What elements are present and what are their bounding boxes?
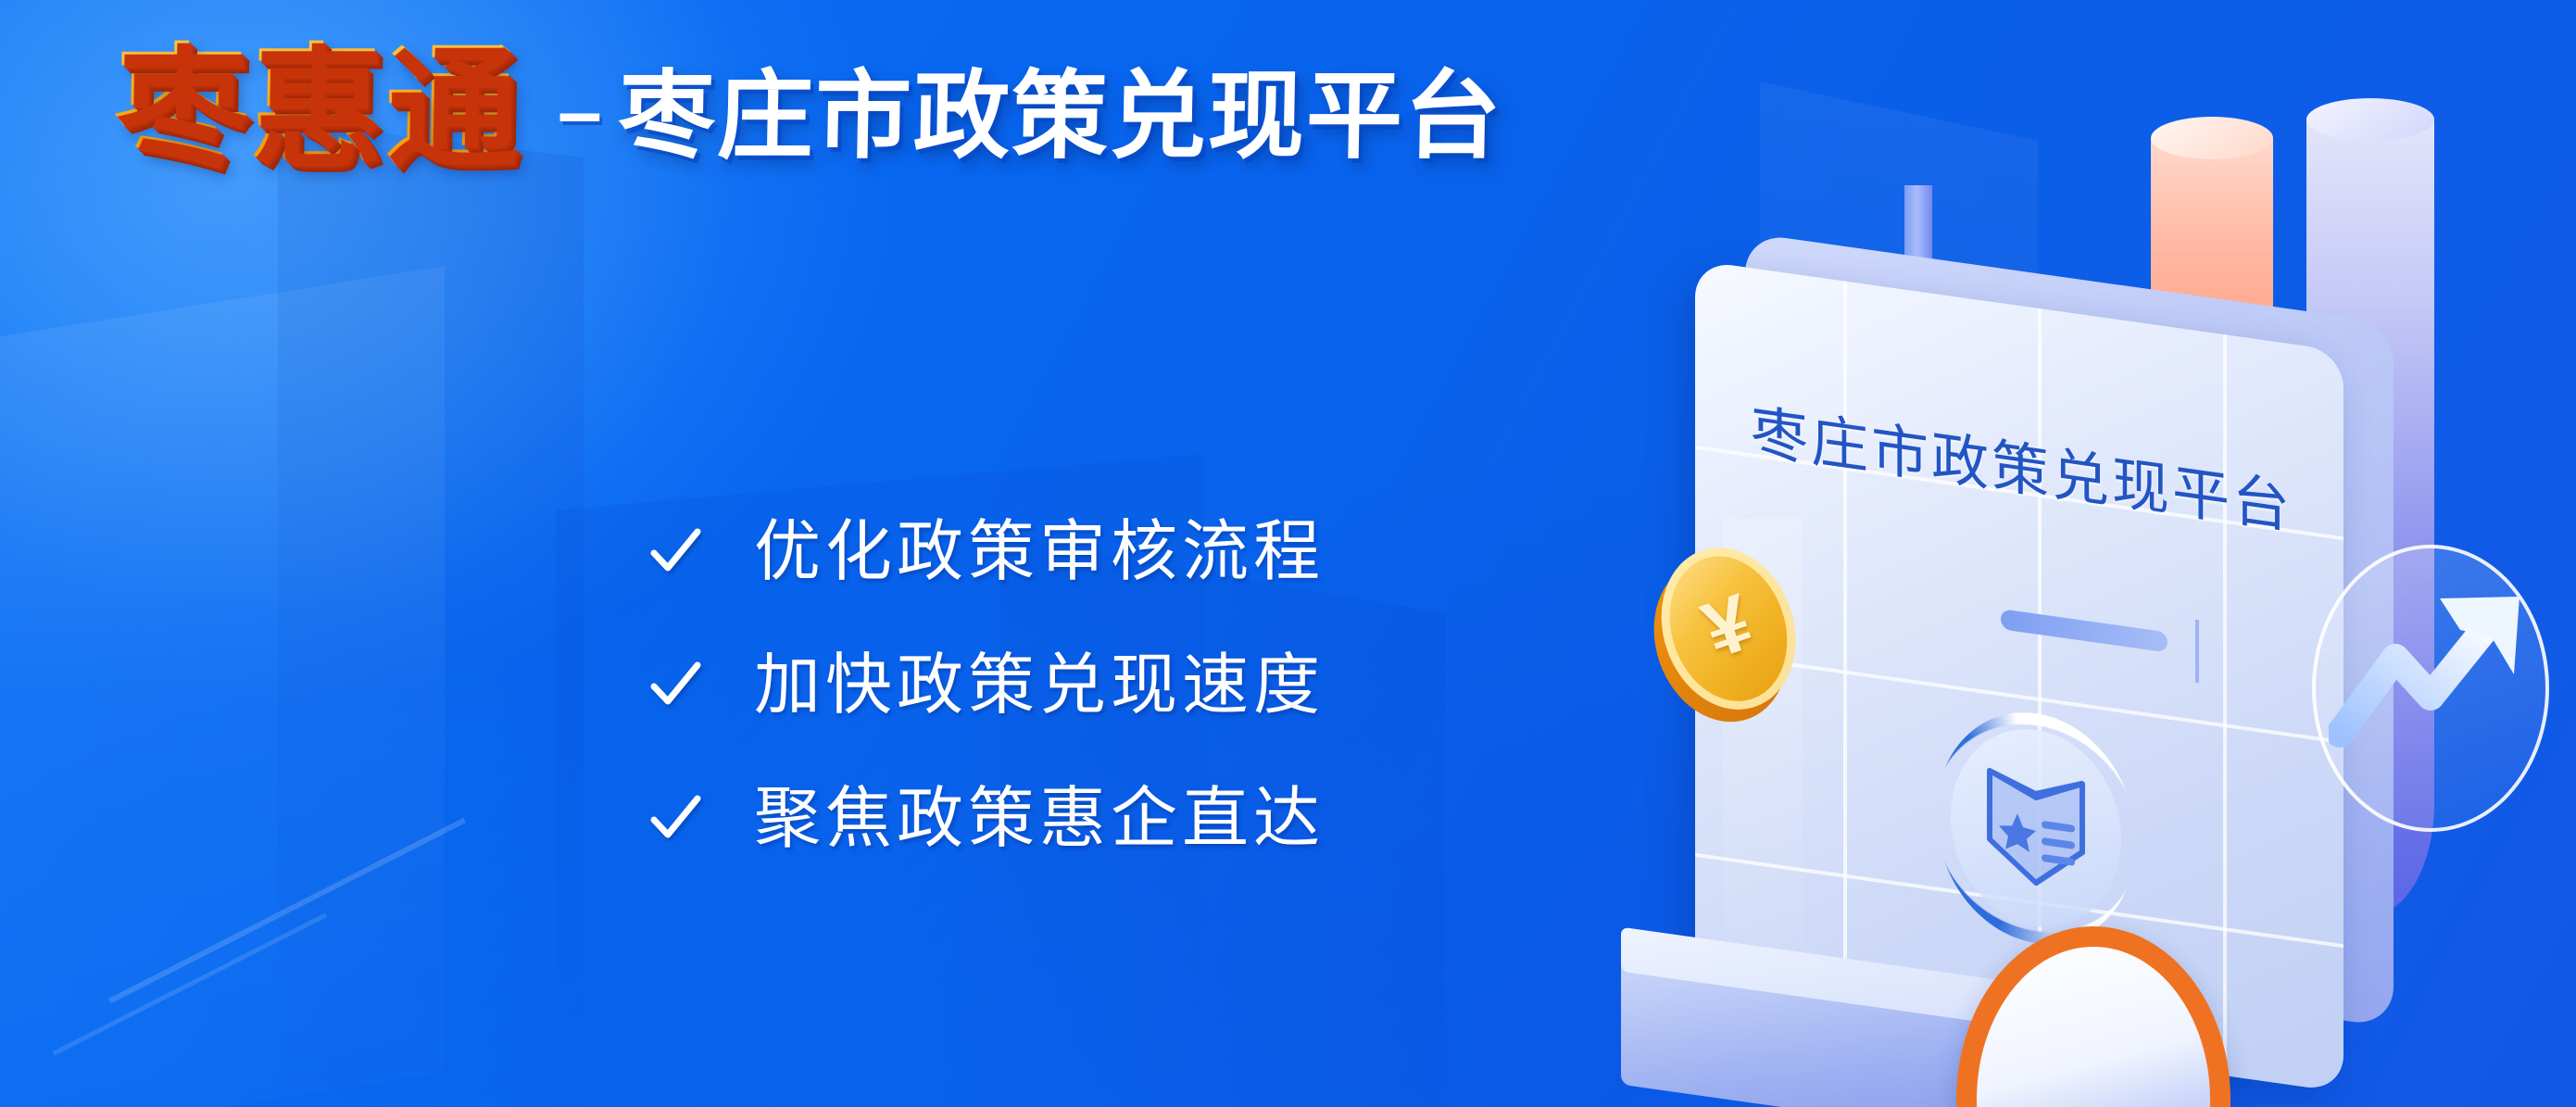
- background-diagonal-line-1: [108, 818, 466, 1004]
- brand-logo-text: 枣惠通: [110, 35, 526, 189]
- feature-list-item: 聚焦政策惠企直达: [648, 786, 1325, 852]
- trend-up-arrow-icon: [2312, 545, 2549, 832]
- bar-cap: [2151, 117, 2273, 159]
- check-icon: [648, 659, 702, 712]
- background-building-shape-1: [0, 266, 445, 1107]
- feature-list-item-label: 聚焦政策惠企直达: [754, 786, 1325, 852]
- background-diagonal-line-2: [53, 912, 327, 1055]
- hero-illustration: 枣庄市政策兑现平台 ¥: [1630, 0, 2576, 1107]
- shield-star-icon: [1936, 699, 2136, 957]
- card-tick-mark: [2195, 620, 2199, 684]
- check-icon: [648, 792, 702, 846]
- background-building-shape-2: [278, 120, 584, 1107]
- policy-platform-banner: 枣惠通 – 枣庄市政策兑现平台 优化政策审核流程 加快政策兑现速度: [0, 0, 2576, 1107]
- bar-cap: [2306, 98, 2434, 141]
- feature-list-item-label: 优化政策审核流程: [754, 519, 1325, 585]
- feature-list-item-label: 加快政策兑现速度: [754, 652, 1325, 719]
- coin-currency-symbol: ¥: [1692, 576, 1764, 677]
- check-icon: [648, 525, 702, 579]
- feature-list: 优化政策审核流程 加快政策兑现速度 聚焦政策惠企直达: [648, 519, 1325, 852]
- banner-headline: 枣惠通 – 枣庄市政策兑现平台: [111, 35, 1502, 189]
- feature-list-item: 加快政策兑现速度: [648, 652, 1325, 719]
- banner-subtitle: 枣庄市政策兑现平台: [618, 69, 1503, 165]
- feature-list-item: 优化政策审核流程: [648, 519, 1325, 585]
- headline-separator: –: [558, 72, 602, 152]
